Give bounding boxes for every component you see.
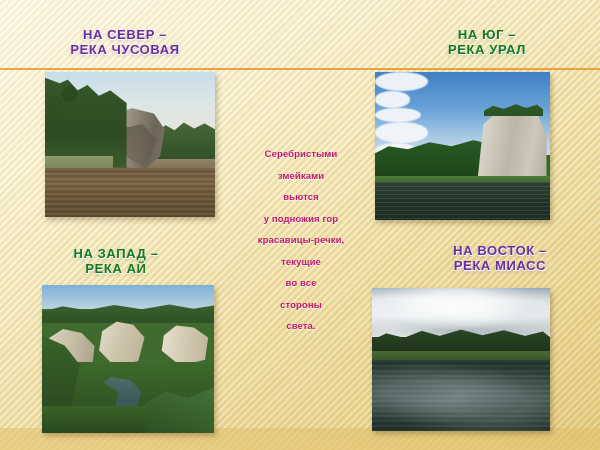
- header-divider-rule: [0, 68, 600, 70]
- ay-sky: [42, 285, 214, 309]
- poem-text-block: Серебристыми змейками вьются у подножия …: [226, 144, 376, 338]
- title-east-miass: НА ВОСТОК – РЕКА МИАСС: [404, 243, 596, 273]
- title-north-chusovaya: НА СЕВЕР – РЕКА ЧУСОВАЯ: [30, 27, 220, 57]
- title-west-ay: НА ЗАПАД – РЕКА АЙ: [26, 246, 206, 276]
- ural-cloud: [375, 72, 428, 91]
- presentation-slide: НА СЕВЕР – РЕКА ЧУСОВАЯ НА ЮГ – РЕКА УРА…: [0, 0, 600, 450]
- ural-cloud: [375, 122, 428, 143]
- photo-ay-river: [42, 285, 214, 433]
- poem-line: змейками: [226, 166, 376, 188]
- poem-line: у подножия гор: [226, 209, 376, 231]
- ural-reflection: [375, 182, 550, 220]
- poem-line: красавицы-речки,: [226, 230, 376, 252]
- poem-line: текущие: [226, 252, 376, 274]
- chusovaya-reflection: [45, 168, 215, 217]
- photo-chusovaya-river: [45, 72, 215, 217]
- poem-line: света.: [226, 316, 376, 338]
- poem-line: вьются: [226, 187, 376, 209]
- photo-miass-river: [372, 288, 550, 431]
- miass-reflection: [372, 360, 550, 432]
- poem-line: Серебристыми: [226, 144, 376, 166]
- ural-cloud: [375, 91, 410, 107]
- poem-line: во все: [226, 273, 376, 295]
- ural-cloud: [375, 108, 421, 123]
- title-south-ural: НА ЮГ – РЕКА УРАЛ: [392, 27, 582, 57]
- photo-ural-river: [375, 72, 550, 220]
- miass-clouds: [372, 288, 550, 337]
- poem-line: стороны: [226, 295, 376, 317]
